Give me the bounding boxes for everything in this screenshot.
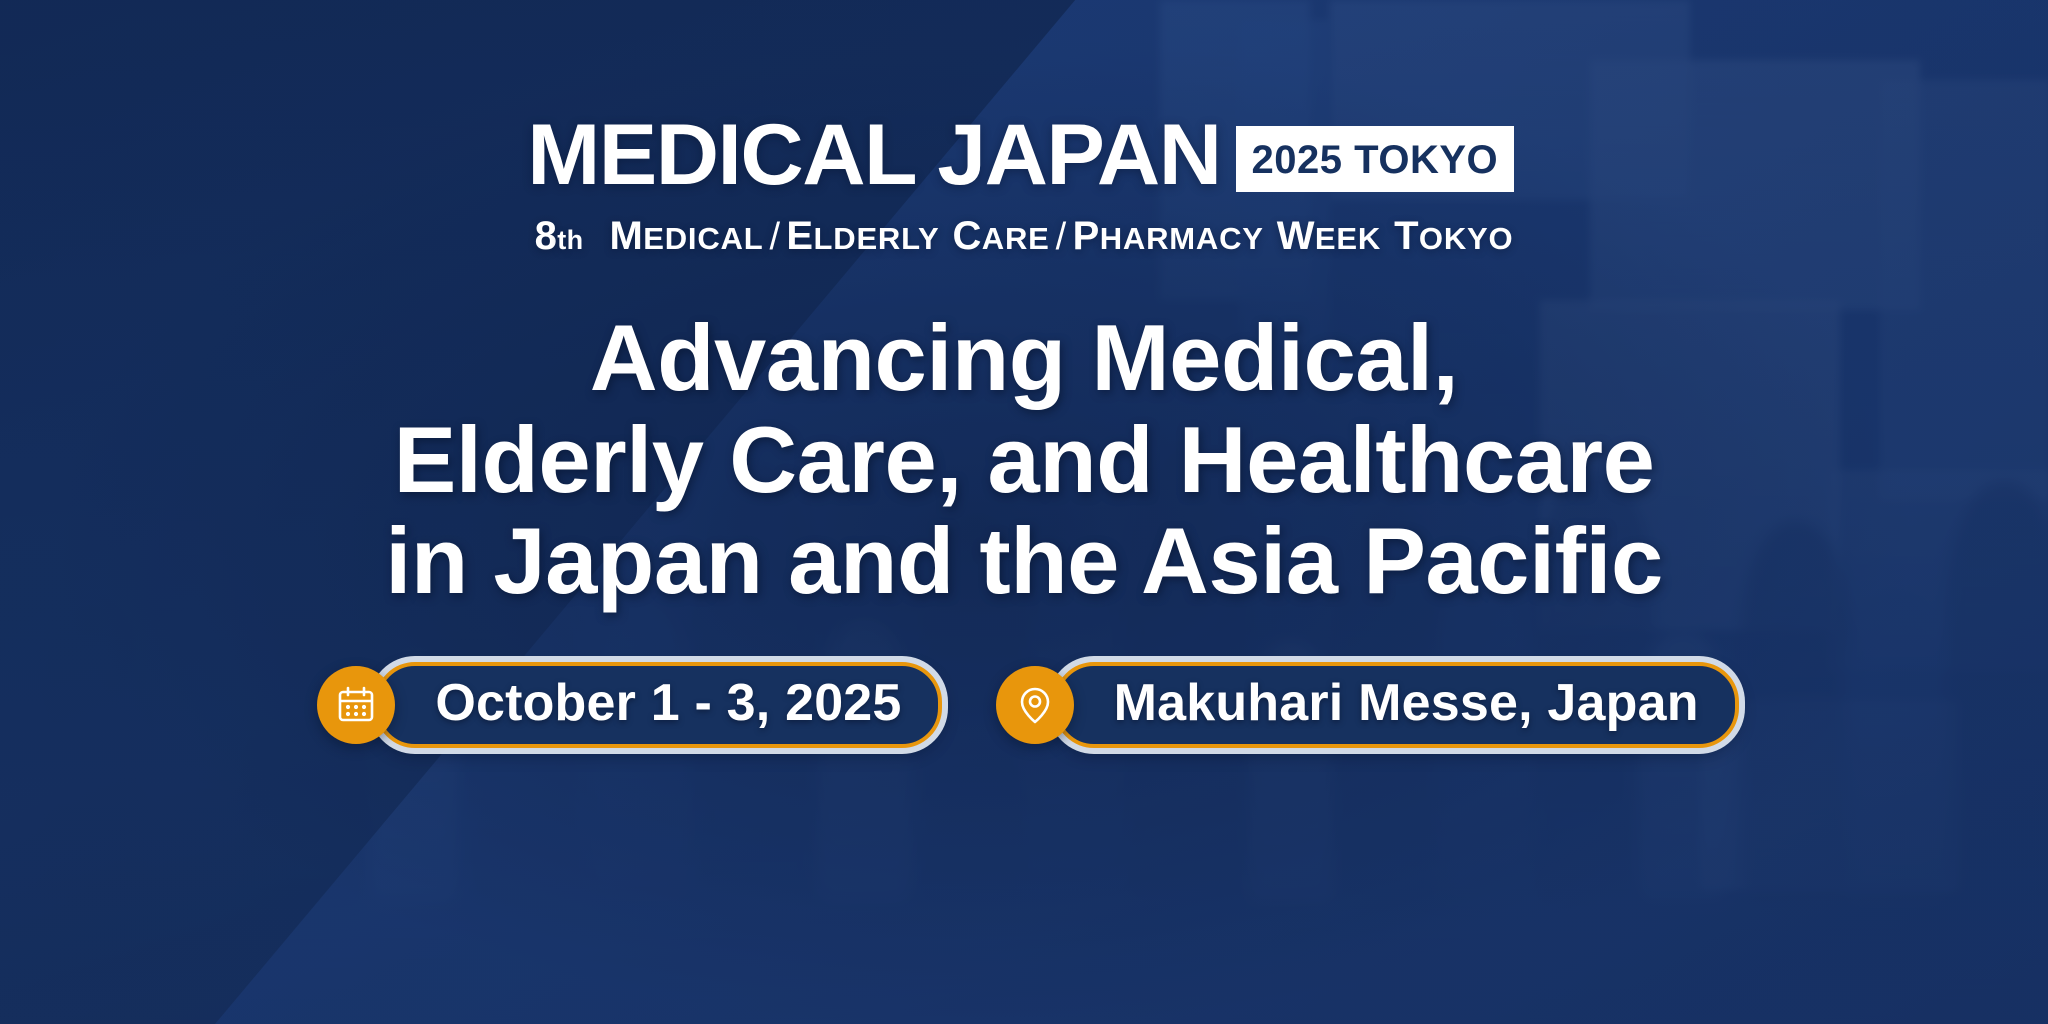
location-pin-icon: [996, 666, 1074, 744]
headline-line-3: in Japan and the Asia Pacific: [385, 510, 1663, 612]
year-city-badge: 2025 TOKYO: [1236, 126, 1515, 192]
event-logo-lockup: MEDICAL JAPAN 2025 TOKYO 8th MEDICAL / E…: [534, 112, 1514, 259]
edition-suffix: th: [557, 225, 583, 256]
event-venue-pill-body: Makuhari Messe, Japan: [1054, 662, 1739, 748]
event-date-label: October 1 - 3, 2025: [435, 677, 901, 733]
banner-content: MEDICAL JAPAN 2025 TOKYO 8th MEDICAL / E…: [0, 0, 2048, 1024]
calendar-icon: [317, 666, 395, 744]
subtitle-tokyo-rest: OKYO: [1419, 221, 1514, 257]
subtitle-medical-rest: EDICAL: [643, 221, 763, 257]
subtitle-pharmacy-rest: HARMACY: [1100, 221, 1264, 257]
headline: Advancing Medical, Elderly Care, and Hea…: [385, 307, 1663, 612]
subtitle-elderly-cap: E: [786, 214, 813, 259]
subtitle-separator-2: /: [1050, 216, 1073, 259]
headline-line-1: Advancing Medical,: [385, 307, 1663, 409]
subtitle-tokyo-cap: T: [1394, 214, 1419, 259]
subtitle-separator-1: /: [763, 216, 786, 259]
headline-line-2: Elderly Care, and Healthcare: [385, 409, 1663, 511]
event-logo-subtitle: 8th MEDICAL / ELDERLY CARE / PHARMACY WE…: [535, 214, 1514, 259]
subtitle-care-rest: ARE: [982, 221, 1050, 257]
edition-number: 8: [535, 214, 558, 259]
event-venue-label: Makuhari Messe, Japan: [1114, 677, 1699, 733]
subtitle-week-cap: W: [1277, 214, 1315, 259]
info-pill-row: October 1 - 3, 2025 Makuhari Messe, Japa…: [309, 666, 1738, 744]
event-venue-pill[interactable]: Makuhari Messe, Japan: [988, 666, 1739, 744]
event-date-pill-body: October 1 - 3, 2025: [375, 662, 941, 748]
subtitle-elderly-rest: LDERLY: [814, 221, 940, 257]
subtitle-medical-cap: M: [610, 214, 644, 259]
event-banner: MEDICAL JAPAN 2025 TOKYO 8th MEDICAL / E…: [0, 0, 2048, 1024]
subtitle-care-cap: C: [952, 214, 981, 259]
event-logo-title: MEDICAL JAPAN: [527, 112, 1220, 198]
logo-title-row: MEDICAL JAPAN 2025 TOKYO: [534, 112, 1514, 198]
subtitle-week-rest: EEK: [1315, 221, 1381, 257]
subtitle-pharmacy-cap: P: [1073, 214, 1100, 259]
event-date-pill[interactable]: October 1 - 3, 2025: [309, 666, 941, 744]
